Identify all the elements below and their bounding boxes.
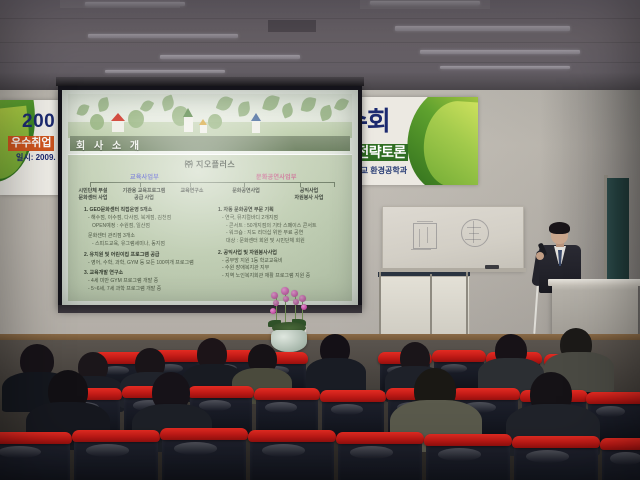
seat[interactable] (256, 388, 318, 436)
slide-subtitle: ㈜ 지오플러스 (68, 159, 352, 170)
house-red-roof (112, 120, 124, 132)
banner-left-year: 200 (22, 112, 55, 131)
orchid-pot (271, 330, 307, 352)
seat[interactable] (602, 438, 640, 480)
slide-body: ㈜ 지오플러스 교육사업부 문화공연사업부 시민단체 부설문화센터 사업 기관용… (68, 155, 352, 301)
org-label-education: 교육사업부 (130, 172, 159, 181)
seat[interactable] (74, 430, 158, 480)
banner-left: 200 우수취업 일시: 2009. (0, 100, 62, 195)
org-label-culture: 문화공연사업부 (256, 172, 297, 181)
ceiling-vent (268, 20, 316, 32)
screen-bottom-bar (58, 305, 362, 313)
slide-left-column: 1. GEO문화센터 직접운영 5개소 - 해수점, 이수점, 다사점, 북계점… (84, 207, 208, 294)
seat[interactable] (338, 432, 422, 480)
ceiling-light-fixture (420, 50, 580, 54)
seat[interactable] (162, 428, 246, 480)
seat[interactable] (0, 432, 70, 480)
whiteboard-marker[interactable] (485, 265, 499, 269)
seat[interactable] (514, 436, 598, 480)
slide-title: 회 사 소 개 (76, 137, 142, 152)
banner-left-tag: 우수취업 (8, 136, 54, 151)
ceiling-light-fixture (370, 1, 480, 5)
whiteboard (382, 206, 524, 270)
seat[interactable] (250, 430, 334, 480)
org-box: 문화공연사업 (224, 188, 268, 195)
ceiling-light-fixture (85, 2, 185, 6)
org-box: 교육연구소 (172, 188, 212, 195)
screen-valance (56, 77, 364, 86)
slide-right-column: 1. 자동 문화공연 부문 기획 - 연극, 뮤지컬바디 2개지점 - 콘서트 … (218, 207, 346, 281)
speaker-hair (549, 222, 570, 234)
presentation-room-photo: 200 우수취업 일시: 2009. 수회 공전략토론 대학교 환경공학과 (0, 0, 640, 480)
slide-header-illustration (68, 94, 352, 138)
banner-left-date: 일시: 2009. (16, 152, 56, 163)
org-box: 시민단체 부설문화센터 사업 (70, 188, 116, 202)
ceiling-light-fixture (160, 55, 300, 59)
org-box: 공익사업자원봉사 사업 (284, 188, 334, 202)
flip-chart-easel (380, 276, 470, 338)
podium-top-surface (548, 279, 640, 286)
ceiling-light-fixture (440, 66, 570, 69)
org-box: 기관용 교육프로그램공급 사업 (120, 188, 168, 202)
seat[interactable] (426, 434, 510, 480)
projection-screen: 회 사 소 개 ㈜ 지오플러스 교육사업부 문화공연사업부 시민단체 부설문화센… (62, 90, 358, 305)
ceiling-light-fixture (88, 34, 238, 38)
speaker-hand (536, 252, 544, 260)
ceiling-light-fixture (395, 26, 570, 31)
